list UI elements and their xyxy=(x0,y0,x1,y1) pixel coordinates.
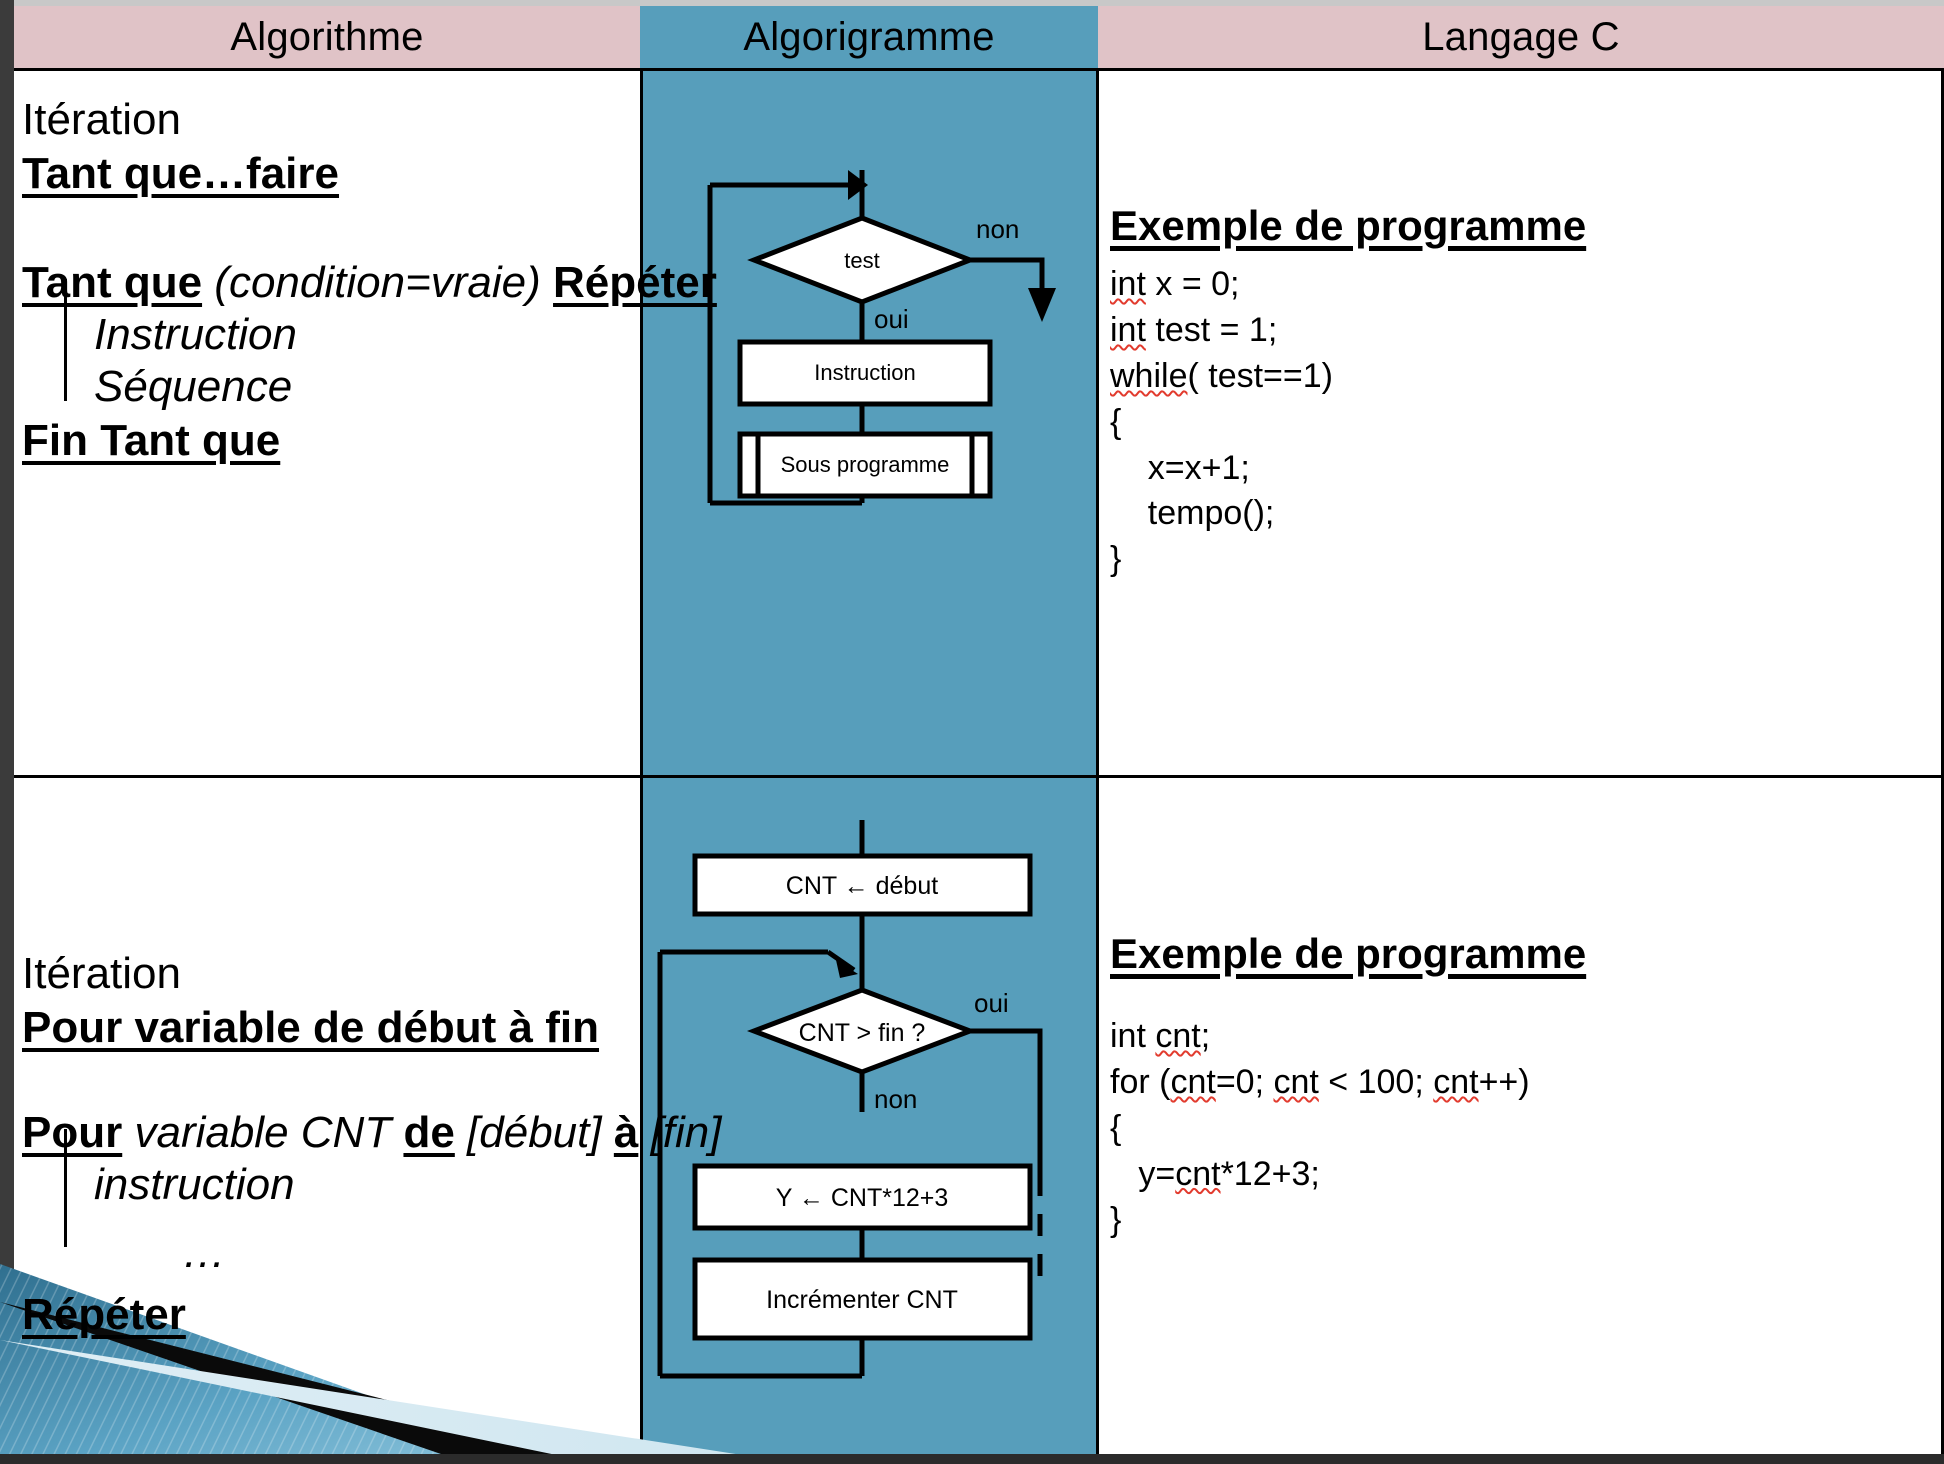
row2-algo-variable: variable CNT xyxy=(134,1108,391,1157)
slide-canvas: Algorithme Algorigramme Langage C Itérat… xyxy=(0,0,1944,1464)
decorative-corner-ribbon xyxy=(0,1244,800,1464)
row1-algo-line2: Tant que…faire xyxy=(22,149,339,199)
row1-box-instruction-label: Instruction xyxy=(814,360,916,385)
row2-algo-keyword-a: à xyxy=(614,1108,638,1157)
row2-code-title: Exemple de programme xyxy=(1110,930,1586,978)
row1-code-line-6: } xyxy=(1110,537,1940,583)
row2-code-line-1: for (cnt=0; cnt < 100; cnt++) xyxy=(1110,1060,1940,1106)
row1-code-line-1: int test = 1; xyxy=(1110,308,1940,354)
row1-algo-condition: (condition=vraie) xyxy=(214,258,541,307)
row1-algo-fin: Fin Tant que xyxy=(22,416,280,466)
row1-code-line-0: int x = 0; xyxy=(1110,262,1940,308)
row2-algo-line1: Itération xyxy=(22,952,672,997)
row2-algo-start: [début] xyxy=(467,1108,602,1157)
header-label-langage-c: Langage C xyxy=(1422,15,1620,60)
row2-algo-keyword-pour: Pour xyxy=(22,1108,122,1157)
row1-langage-c-cell: Exemple de programme int x = 0; int test… xyxy=(1110,202,1940,583)
header-cell-algorigramme: Algorigramme xyxy=(640,6,1098,68)
grid-line-header-bottom xyxy=(14,68,1944,71)
row2-code-line-0: int cnt; xyxy=(1110,1014,1940,1060)
row2-algo-keyword-de: de xyxy=(403,1108,454,1157)
header-label-algorigramme: Algorigramme xyxy=(743,15,994,60)
row1-box-subprogram-label: Sous programme xyxy=(781,452,950,477)
row2-algo-repeter: Répéter xyxy=(22,1290,186,1340)
header-cell-algorithme: Algorithme xyxy=(14,6,640,68)
row2-algo-instruction: instruction xyxy=(94,1160,672,1210)
row1-algorithme-cell: Itération Tant que…faire Tant que (condi… xyxy=(22,98,672,466)
arrowhead-icon xyxy=(848,170,868,200)
row1-code-title: Exemple de programme xyxy=(1110,202,1586,250)
row1-code-line-4: x=x+1; xyxy=(1110,446,1940,492)
arrowhead-non-icon xyxy=(1028,288,1056,322)
row2-code-line-3: y=cnt*12+3; xyxy=(1110,1152,1940,1198)
row1-algo-block-bar xyxy=(64,279,67,401)
row1-label-oui: oui xyxy=(874,304,909,334)
header-cell-langage-c: Langage C xyxy=(1098,6,1944,68)
row2-label-non: non xyxy=(874,1084,917,1114)
row1-code-line-3: { xyxy=(1110,400,1940,446)
row1-algo-keyword-tantque: Tant que xyxy=(22,258,202,307)
row2-label-oui: oui xyxy=(974,988,1009,1018)
row2-decision-label: CNT > fin ? xyxy=(799,1019,926,1047)
row1-algo-line1: Itération xyxy=(22,98,672,143)
row1-code-line-5: tempo(); xyxy=(1110,491,1940,537)
row2-code-line-2: { xyxy=(1110,1106,1940,1152)
row1-decision-label: test xyxy=(844,248,879,273)
row1-algo-sequence: Séquence xyxy=(94,362,672,412)
row1-code-line-2: while( test==1) xyxy=(1110,354,1940,400)
slide-bottom-border xyxy=(0,1454,1944,1464)
row1-algo-instruction: Instruction xyxy=(94,310,672,360)
row2-algo-block-bar xyxy=(64,1129,67,1247)
row2-box-compute-label: Y ← CNT*12+3 xyxy=(776,1184,949,1212)
row2-flowchart-top: CNT ← début CNT > fin ? oui non xyxy=(640,820,1100,1150)
row2-algo-line2: Pour variable de début à fin xyxy=(22,1003,599,1053)
row2-code-line-4: } xyxy=(1110,1198,1940,1244)
row2-box-init-label: CNT ← début xyxy=(786,872,938,900)
row1-flowchart: test non oui Instruction Sous programme xyxy=(640,130,1100,550)
row2-langage-c-cell: Exemple de programme int cnt; for (cnt=0… xyxy=(1110,775,1940,1243)
header-label-algorithme: Algorithme xyxy=(230,15,423,60)
row1-label-non: non xyxy=(976,214,1019,244)
